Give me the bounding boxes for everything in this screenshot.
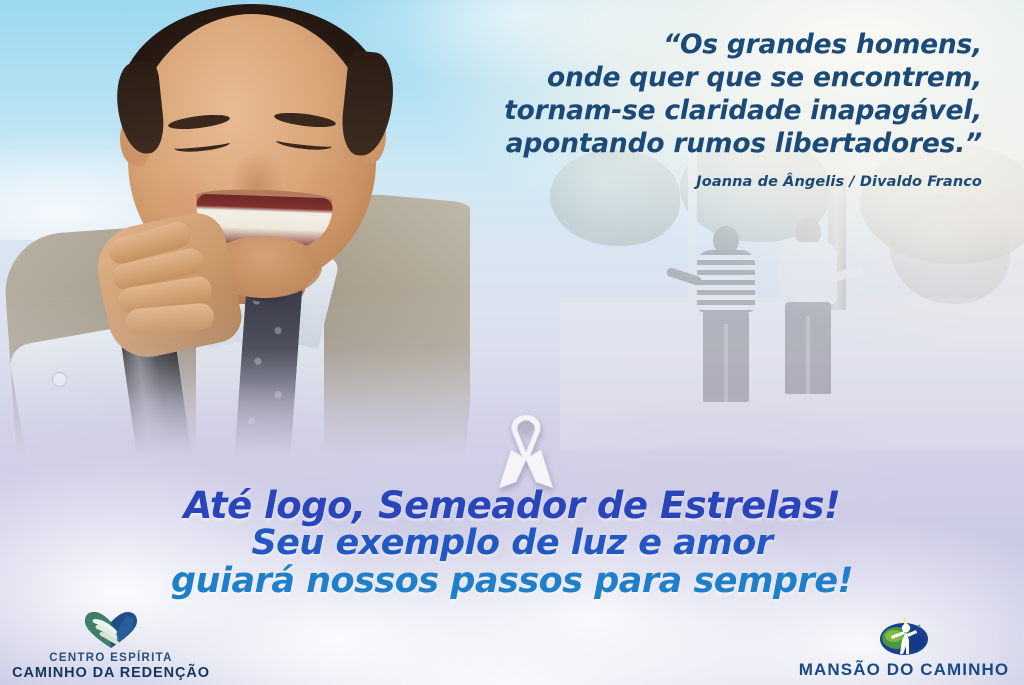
quote-line-4: apontando rumos libertadores.”	[422, 127, 982, 160]
quote-block: “Os grandes homens, onde quer que se enc…	[422, 28, 982, 190]
globe-figure-icon	[878, 614, 930, 658]
poster-canvas: “Os grandes homens, onde quer que se enc…	[0, 0, 1024, 685]
quote-author: Joanna de Ângelis / Divaldo Franco	[422, 174, 982, 190]
headline-line-2: Seu exemplo de luz e amor	[0, 525, 1024, 562]
headline-line-3: guiará nossos passos para sempre!	[0, 562, 1024, 600]
white-ribbon-icon	[489, 408, 563, 494]
quote-line-1: “Os grandes homens,	[422, 28, 982, 61]
quote-line-3: tornam-se claridade inapagável,	[422, 94, 982, 127]
logo-mansao-do-caminho-label: MANSÃO DO CAMINHO	[794, 660, 1014, 679]
quote-line-2: onde quer que se encontrem,	[422, 61, 982, 94]
logo-centro-espirita-line-1: CENTRO ESPÍRITA	[6, 652, 216, 665]
heart-hands-icon	[83, 610, 139, 650]
logo-mansao-do-caminho[interactable]: MANSÃO DO CAMINHO	[794, 614, 1014, 679]
logo-centro-espirita[interactable]: CENTRO ESPÍRITA CAMINHO DA REDENÇÃO	[6, 610, 216, 681]
logo-centro-espirita-line-2: CAMINHO DA REDENÇÃO	[6, 665, 216, 681]
headline-block: Até logo, Semeador de Estrelas! Seu exem…	[0, 486, 1024, 600]
portrait-hair-side-right	[339, 50, 398, 158]
headline-line-1: Até logo, Semeador de Estrelas!	[0, 486, 1024, 525]
